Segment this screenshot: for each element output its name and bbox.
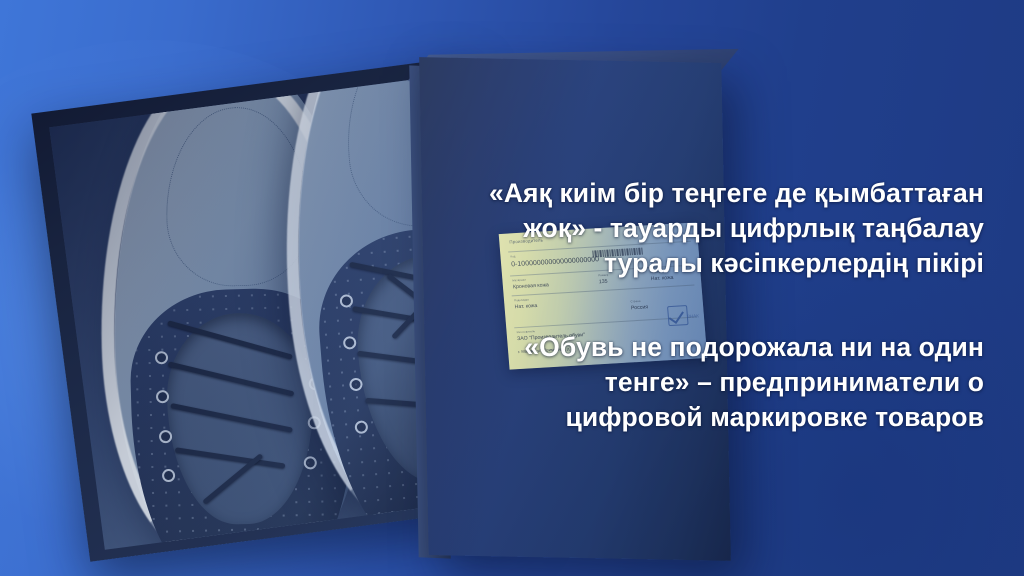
lace-eyelet	[354, 420, 368, 434]
caption-kazakh-line-1: «Аяқ киім бір теңгеге де қымбаттаған	[384, 176, 984, 211]
lace-eyelet	[307, 338, 320, 351]
banner-image: Производитель Код 0-10000000000000000000…	[0, 0, 1024, 576]
sneaker-left-perforation	[128, 286, 358, 550]
label-country-caption: Страна	[630, 300, 640, 304]
checkmark-icon	[667, 305, 689, 326]
caption-kazakh-line-2: жоқ» - тауарды цифрлық таңбалау	[384, 211, 984, 246]
caption-kazakh: «Аяқ киім бір теңгеге де қымбаттаған жоқ…	[384, 176, 984, 281]
lace-segment	[170, 404, 293, 434]
label-check-word: ЗНАК	[687, 313, 699, 319]
lace-eyelet	[349, 378, 363, 392]
lace-eyelet	[340, 294, 354, 308]
caption-russian-line-2: тенге» – предприниматели о	[384, 365, 984, 400]
label-field-3-value: Нат. кожа	[514, 303, 537, 310]
caption-russian: «Обувь не подорожала ни на один тенге» –…	[384, 330, 984, 435]
sneaker-left-toe-stitching	[164, 105, 312, 287]
sneaker-left-vamp	[128, 286, 358, 550]
label-country-value: Россия	[631, 304, 648, 311]
sneaker-left-sole	[94, 75, 369, 550]
sneaker-left	[107, 75, 373, 550]
label-field-3-caption: Подкладка	[514, 298, 529, 302]
lace-eyelet	[343, 336, 357, 350]
product-photo: Производитель Код 0-10000000000000000000…	[0, 0, 1024, 576]
lace-eyelet	[304, 456, 317, 469]
lace-eyelet	[162, 469, 175, 482]
lace-knot	[202, 453, 263, 505]
caption-russian-line-3: цифровой маркировке товаров	[384, 400, 984, 435]
label-field-1-value: Кроновая кожа	[513, 282, 549, 290]
lace-segment	[167, 320, 292, 359]
lace-eyelet	[159, 429, 172, 442]
sneaker-left-collar	[164, 311, 316, 526]
lace-eyelet	[308, 377, 321, 390]
lace-eyelet	[155, 390, 168, 403]
lace-eyelet	[154, 351, 167, 364]
caption-russian-line-1: «Обувь не подорожала ни на один	[384, 330, 984, 365]
lace-segment	[175, 447, 285, 468]
lace-segment	[167, 362, 293, 397]
caption-kazakh-line-3: туралы кәсіпкерлердің пікірі	[384, 246, 984, 281]
lace-eyelet	[307, 417, 320, 430]
